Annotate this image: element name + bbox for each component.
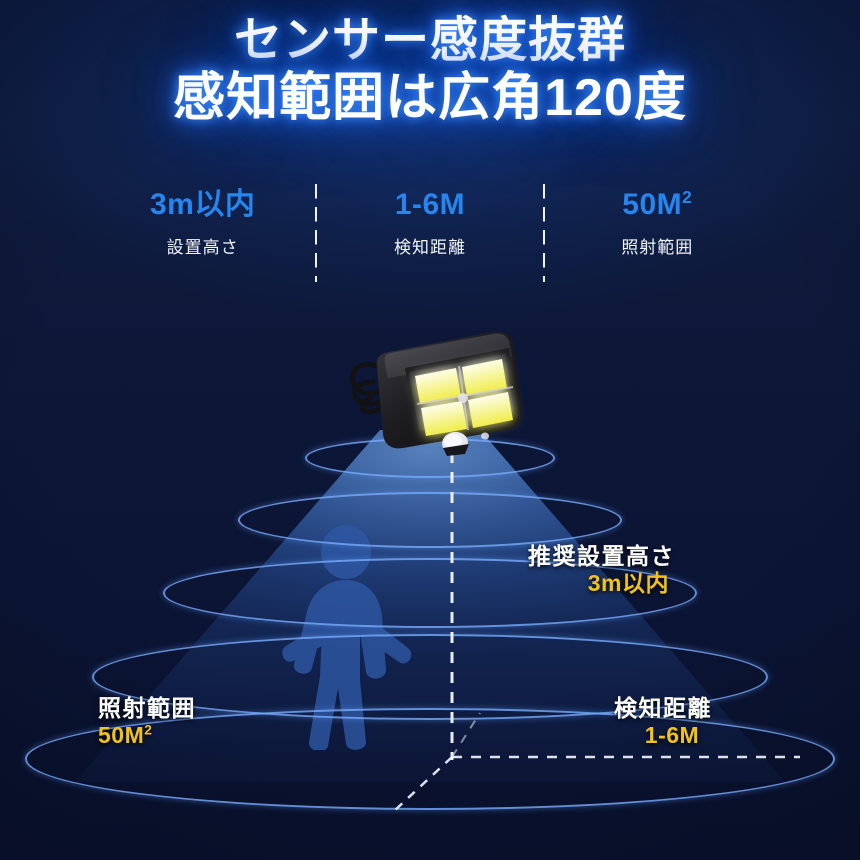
spec-value-coverage-area: 50M2 [545, 190, 770, 220]
spec-item-detection-distance: 1-6M 検知距離 [317, 190, 542, 258]
page-title: センサー感度抜群 感知範囲は広角120度 [0, 16, 860, 126]
callout-coverage-area: 照射範囲 50M2 [98, 696, 196, 749]
callout-coverage-area-value: 50M2 [98, 722, 196, 749]
spec-label-install-height: 設置高さ [90, 233, 315, 258]
spec-value-coverage-area-superscript: 2 [682, 187, 692, 207]
callout-detection-distance: 検知距離 1-6M [614, 696, 712, 749]
headline-line-2: 感知範囲は広角120度 [0, 71, 860, 126]
spec-value-install-height: 3m以内 [90, 190, 315, 220]
spec-summary-row: 3m以内 設置高さ 1-6M 検知距離 50M2 照射範囲 [90, 190, 770, 282]
spec-item-coverage-area: 50M2 照射範囲 [545, 190, 770, 258]
spec-value-coverage-area-number: 50M [622, 188, 682, 221]
callout-install-height-title: 推奨設置高さ [528, 544, 675, 570]
spec-label-coverage-area: 照射範囲 [545, 233, 770, 258]
spec-item-install-height: 3m以内 設置高さ [90, 190, 315, 258]
led-floodlight-icon [333, 312, 533, 457]
callout-detection-distance-value: 1-6M [614, 722, 712, 749]
callout-coverage-area-number: 50M [98, 722, 144, 748]
callout-install-height-value: 3m以内 [528, 570, 675, 597]
callout-coverage-area-title: 照射範囲 [98, 696, 196, 722]
headline-line-1: センサー感度抜群 [0, 16, 860, 67]
spec-label-detection-distance: 検知距離 [317, 233, 542, 258]
callout-detection-distance-title: 検知距離 [614, 696, 712, 722]
callout-coverage-area-superscript: 2 [144, 722, 152, 737]
spec-value-detection-distance: 1-6M [317, 190, 542, 220]
detection-ring-2 [238, 492, 622, 548]
product-infographic: センサー感度抜群 感知範囲は広角120度 3m以内 設置高さ 1-6M 検知距離… [0, 0, 860, 860]
callout-install-height: 推奨設置高さ 3m以内 [528, 544, 675, 597]
